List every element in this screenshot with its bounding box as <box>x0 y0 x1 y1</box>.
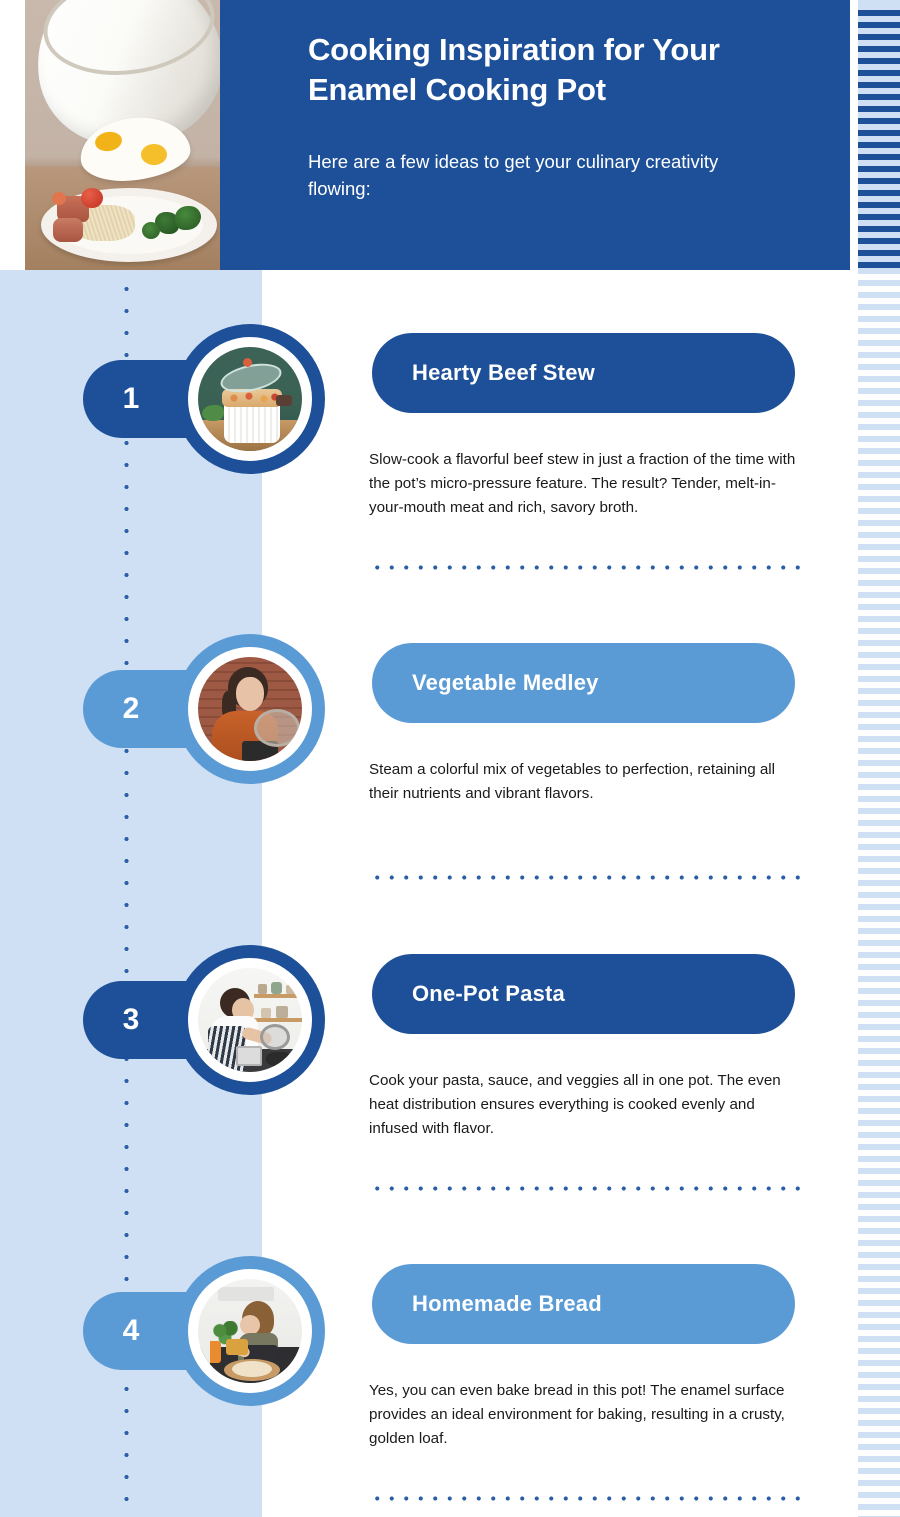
circle-white-ring <box>188 958 312 1082</box>
step-title-pill-2[interactable]: Vegetable Medley <box>372 643 795 723</box>
step-title-2: Vegetable Medley <box>372 670 599 696</box>
step-title-1: Hearty Beef Stew <box>372 360 595 386</box>
circle-white-ring <box>188 647 312 771</box>
step-number-2: 2 <box>83 670 179 748</box>
tomato-icon <box>81 188 103 208</box>
step-title-pill-1[interactable]: Hearty Beef Stew <box>372 333 795 413</box>
step-separator-2 <box>370 875 806 880</box>
step-image-circle-1 <box>175 324 325 474</box>
jar-icon <box>276 1006 288 1018</box>
step-description-3: Cook your pasta, sauce, and veggies all … <box>369 1069 801 1141</box>
face <box>236 677 264 711</box>
step-title-4: Homemade Bread <box>372 1291 602 1317</box>
pot-handle <box>276 395 292 406</box>
bread-dough-icon <box>232 1361 272 1377</box>
range-hood <box>218 1287 274 1301</box>
step-title-pill-4[interactable]: Homemade Bread <box>372 1264 795 1344</box>
step-title-3: One-Pot Pasta <box>372 981 565 1007</box>
frying-pan-icon <box>266 1052 292 1066</box>
shelf <box>254 1018 302 1022</box>
jar-icon <box>286 985 296 994</box>
face <box>240 1315 260 1335</box>
step-number-4: 4 <box>83 1292 179 1370</box>
jar-icon <box>271 982 282 994</box>
step-photo-2 <box>198 657 302 761</box>
step-photo-1 <box>198 347 302 451</box>
step-image-circle-2 <box>175 634 325 784</box>
circle-white-ring <box>188 337 312 461</box>
header-photo <box>25 0 220 270</box>
step-image-circle-4 <box>175 1256 325 1406</box>
cooking-pot-icon <box>226 1339 248 1355</box>
circle-white-ring <box>188 1269 312 1393</box>
step-number-3: 3 <box>83 981 179 1059</box>
step-description-2: Steam a colorful mix of vegetables to pe… <box>369 758 801 806</box>
lid-knob <box>243 358 252 367</box>
stripe-lines <box>858 0 900 1517</box>
step-separator-1 <box>370 565 806 570</box>
page-title: Cooking Inspiration for Your Enamel Cook… <box>308 30 828 110</box>
infographic-page: Cooking Inspiration for Your Enamel Cook… <box>0 0 900 1517</box>
step-image-circle-3 <box>175 945 325 1095</box>
bottle-icon <box>200 1335 210 1365</box>
step-description-4: Yes, you can even bake bread in this pot… <box>369 1379 801 1451</box>
shelf <box>254 994 302 998</box>
tomato-icon <box>52 192 66 205</box>
herb-leaf-icon <box>202 405 224 421</box>
step-separator-4 <box>370 1496 806 1501</box>
egg-yolk <box>141 144 167 165</box>
bacon-roll-icon <box>53 218 83 242</box>
pan-lid-icon <box>260 1024 290 1050</box>
step-title-pill-3[interactable]: One-Pot Pasta <box>372 954 795 1034</box>
step-photo-3 <box>198 968 302 1072</box>
header-banner: Cooking Inspiration for Your Enamel Cook… <box>220 0 850 270</box>
cooking-pot-icon <box>236 1046 262 1066</box>
pot-lid-icon <box>254 709 300 747</box>
right-stripe-decoration <box>858 0 900 1517</box>
step-separator-3 <box>370 1186 806 1191</box>
step-description-1: Slow-cook a flavorful beef stew in just … <box>369 448 801 520</box>
page-subtitle: Here are a few ideas to get your culinar… <box>308 148 738 203</box>
step-number-1: 1 <box>83 360 179 438</box>
broccoli-icon <box>142 222 160 239</box>
jar-icon <box>258 984 267 994</box>
jar-icon <box>261 1008 271 1018</box>
step-photo-4 <box>198 1279 302 1383</box>
